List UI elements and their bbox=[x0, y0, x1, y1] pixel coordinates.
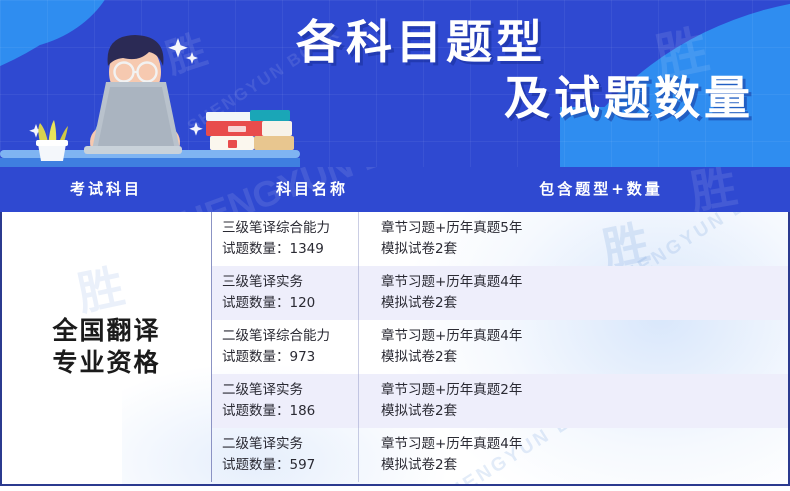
detail-line-1: 章节习题+历年真题5年 bbox=[381, 218, 790, 239]
question-count: 试题数量：1349 bbox=[222, 239, 358, 260]
column-header-exam-subject: 考试科目 bbox=[0, 167, 212, 212]
detail-line-2: 模拟试卷2套 bbox=[381, 239, 790, 260]
detail-line-1: 章节习题+历年真题4年 bbox=[381, 434, 790, 455]
detail-line-2: 模拟试卷2套 bbox=[381, 401, 790, 422]
detail-line-2: 模拟试卷2套 bbox=[381, 293, 790, 314]
detail-cell: 章节习题+历年真题4年 模拟试卷2套 bbox=[358, 428, 790, 482]
category-label-line-1: 全国翻译 bbox=[52, 316, 160, 345]
question-count: 试题数量：186 bbox=[222, 401, 358, 422]
student-at-laptop-illustration bbox=[0, 0, 300, 167]
detail-line-1: 章节习题+历年真题4年 bbox=[381, 326, 790, 347]
question-count: 试题数量：120 bbox=[222, 293, 358, 314]
detail-line-1: 章节习题+历年真题2年 bbox=[381, 380, 790, 401]
detail-cell: 章节习题+历年真题5年 模拟试卷2套 bbox=[358, 212, 790, 266]
detail-line-1: 章节习题+历年真题4年 bbox=[381, 272, 790, 293]
subject-cell: 二级笔译综合能力 试题数量：973 bbox=[212, 326, 358, 368]
detail-cell: 章节习题+历年真题2年 模拟试卷2套 bbox=[358, 374, 790, 428]
question-count: 试题数量：973 bbox=[222, 347, 358, 368]
detail-line-2: 模拟试卷2套 bbox=[381, 347, 790, 368]
detail-line-2: 模拟试卷2套 bbox=[381, 455, 790, 476]
column-header-subject-name: 科目名称 bbox=[212, 167, 412, 212]
table-row: 二级笔译实务 试题数量：597 章节习题+历年真题4年 模拟试卷2套 bbox=[212, 428, 790, 482]
table-body: SHENGYUN BOOK SHENGYUN BOOK 胜 胜 全国翻译 专业资… bbox=[0, 212, 790, 486]
table-row: 三级笔译综合能力 试题数量：1349 章节习题+历年真题5年 模拟试卷2套 bbox=[212, 212, 790, 266]
detail-cell: 章节习题+历年真题4年 模拟试卷2套 bbox=[358, 266, 790, 320]
category-cell: 全国翻译 专业资格 bbox=[2, 212, 212, 482]
subject-cell: 二级笔译实务 试题数量：186 bbox=[212, 380, 358, 422]
table-row: 三级笔译实务 试题数量：120 章节习题+历年真题4年 模拟试卷2套 bbox=[212, 266, 790, 320]
infographic-page: 胜 SHENGYUN BOOK 胜 bbox=[0, 0, 790, 491]
question-count: 试题数量：597 bbox=[222, 455, 358, 476]
subject-name: 二级笔译综合能力 bbox=[222, 326, 358, 347]
subject-name: 二级笔译实务 bbox=[222, 434, 358, 455]
column-header-question-types: 包含题型+数量 bbox=[412, 167, 790, 212]
table-row: 二级笔译综合能力 试题数量：973 章节习题+历年真题4年 模拟试卷2套 bbox=[212, 320, 790, 374]
subject-cell: 二级笔译实务 试题数量：597 bbox=[212, 434, 358, 476]
banner-title: 各科目题型 及试题数量 bbox=[286, 18, 766, 158]
subject-name: 三级笔译实务 bbox=[222, 272, 358, 293]
banner-title-line-1: 各科目题型 bbox=[286, 18, 766, 68]
table-header-row: SHENGYUN BOOK 胜 考试科目 科目名称 包含题型+数量 bbox=[0, 167, 790, 212]
table-rows: 三级笔译综合能力 试题数量：1349 章节习题+历年真题5年 模拟试卷2套 三级… bbox=[212, 212, 790, 482]
header-banner: 胜 SHENGYUN BOOK 胜 bbox=[0, 0, 790, 167]
table-row: 二级笔译实务 试题数量：186 章节习题+历年真题2年 模拟试卷2套 bbox=[212, 374, 790, 428]
subject-name: 二级笔译实务 bbox=[222, 380, 358, 401]
detail-cell: 章节习题+历年真题4年 模拟试卷2套 bbox=[358, 320, 790, 374]
banner-title-line-2: 及试题数量 bbox=[286, 74, 766, 124]
subject-cell: 三级笔译综合能力 试题数量：1349 bbox=[212, 218, 358, 260]
subject-cell: 三级笔译实务 试题数量：120 bbox=[212, 272, 358, 314]
category-label-line-2: 专业资格 bbox=[52, 348, 160, 377]
subject-name: 三级笔译综合能力 bbox=[222, 218, 358, 239]
category-label: 全国翻译 专业资格 bbox=[52, 315, 160, 379]
